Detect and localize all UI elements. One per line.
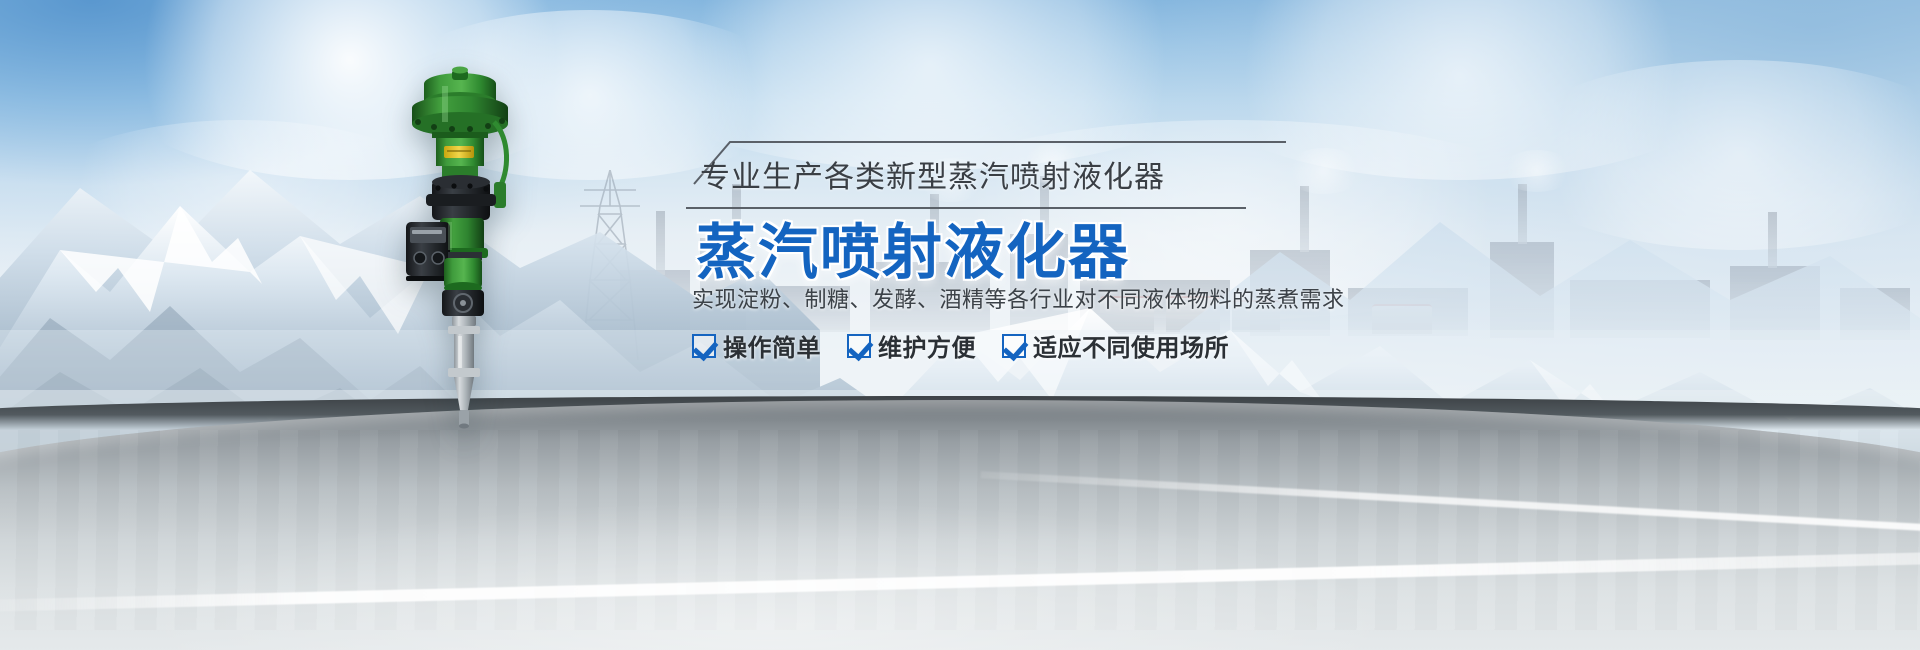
check-icon: [847, 334, 871, 358]
feature-label: 维护方便: [878, 328, 976, 363]
feature-item: 适应不同使用场所: [1002, 328, 1229, 363]
feature-label: 适应不同使用场所: [1033, 328, 1229, 363]
banner-description: 实现淀粉、制糖、发酵、酒精等各行业对不同液体物料的蒸煮需求: [692, 282, 1345, 314]
product-image: [398, 62, 548, 432]
check-icon: [692, 334, 716, 358]
road-sheen: [0, 410, 1920, 650]
feature-item: 维护方便: [847, 328, 976, 363]
banner-headline: 蒸汽喷射液化器: [696, 204, 1130, 291]
feature-label: 操作简单: [723, 328, 821, 363]
feature-item: 操作简单: [692, 328, 821, 363]
check-icon: [1002, 334, 1026, 358]
banner-tagline: 专业生产各类新型蒸汽喷射液化器: [700, 152, 1165, 196]
road: [0, 370, 1920, 650]
promo-banner: 专业生产各类新型蒸汽喷射液化器 蒸汽喷射液化器 实现淀粉、制糖、发酵、酒精等各行…: [0, 0, 1920, 650]
feature-list: 操作简单 维护方便 适应不同使用场所: [692, 328, 1229, 363]
